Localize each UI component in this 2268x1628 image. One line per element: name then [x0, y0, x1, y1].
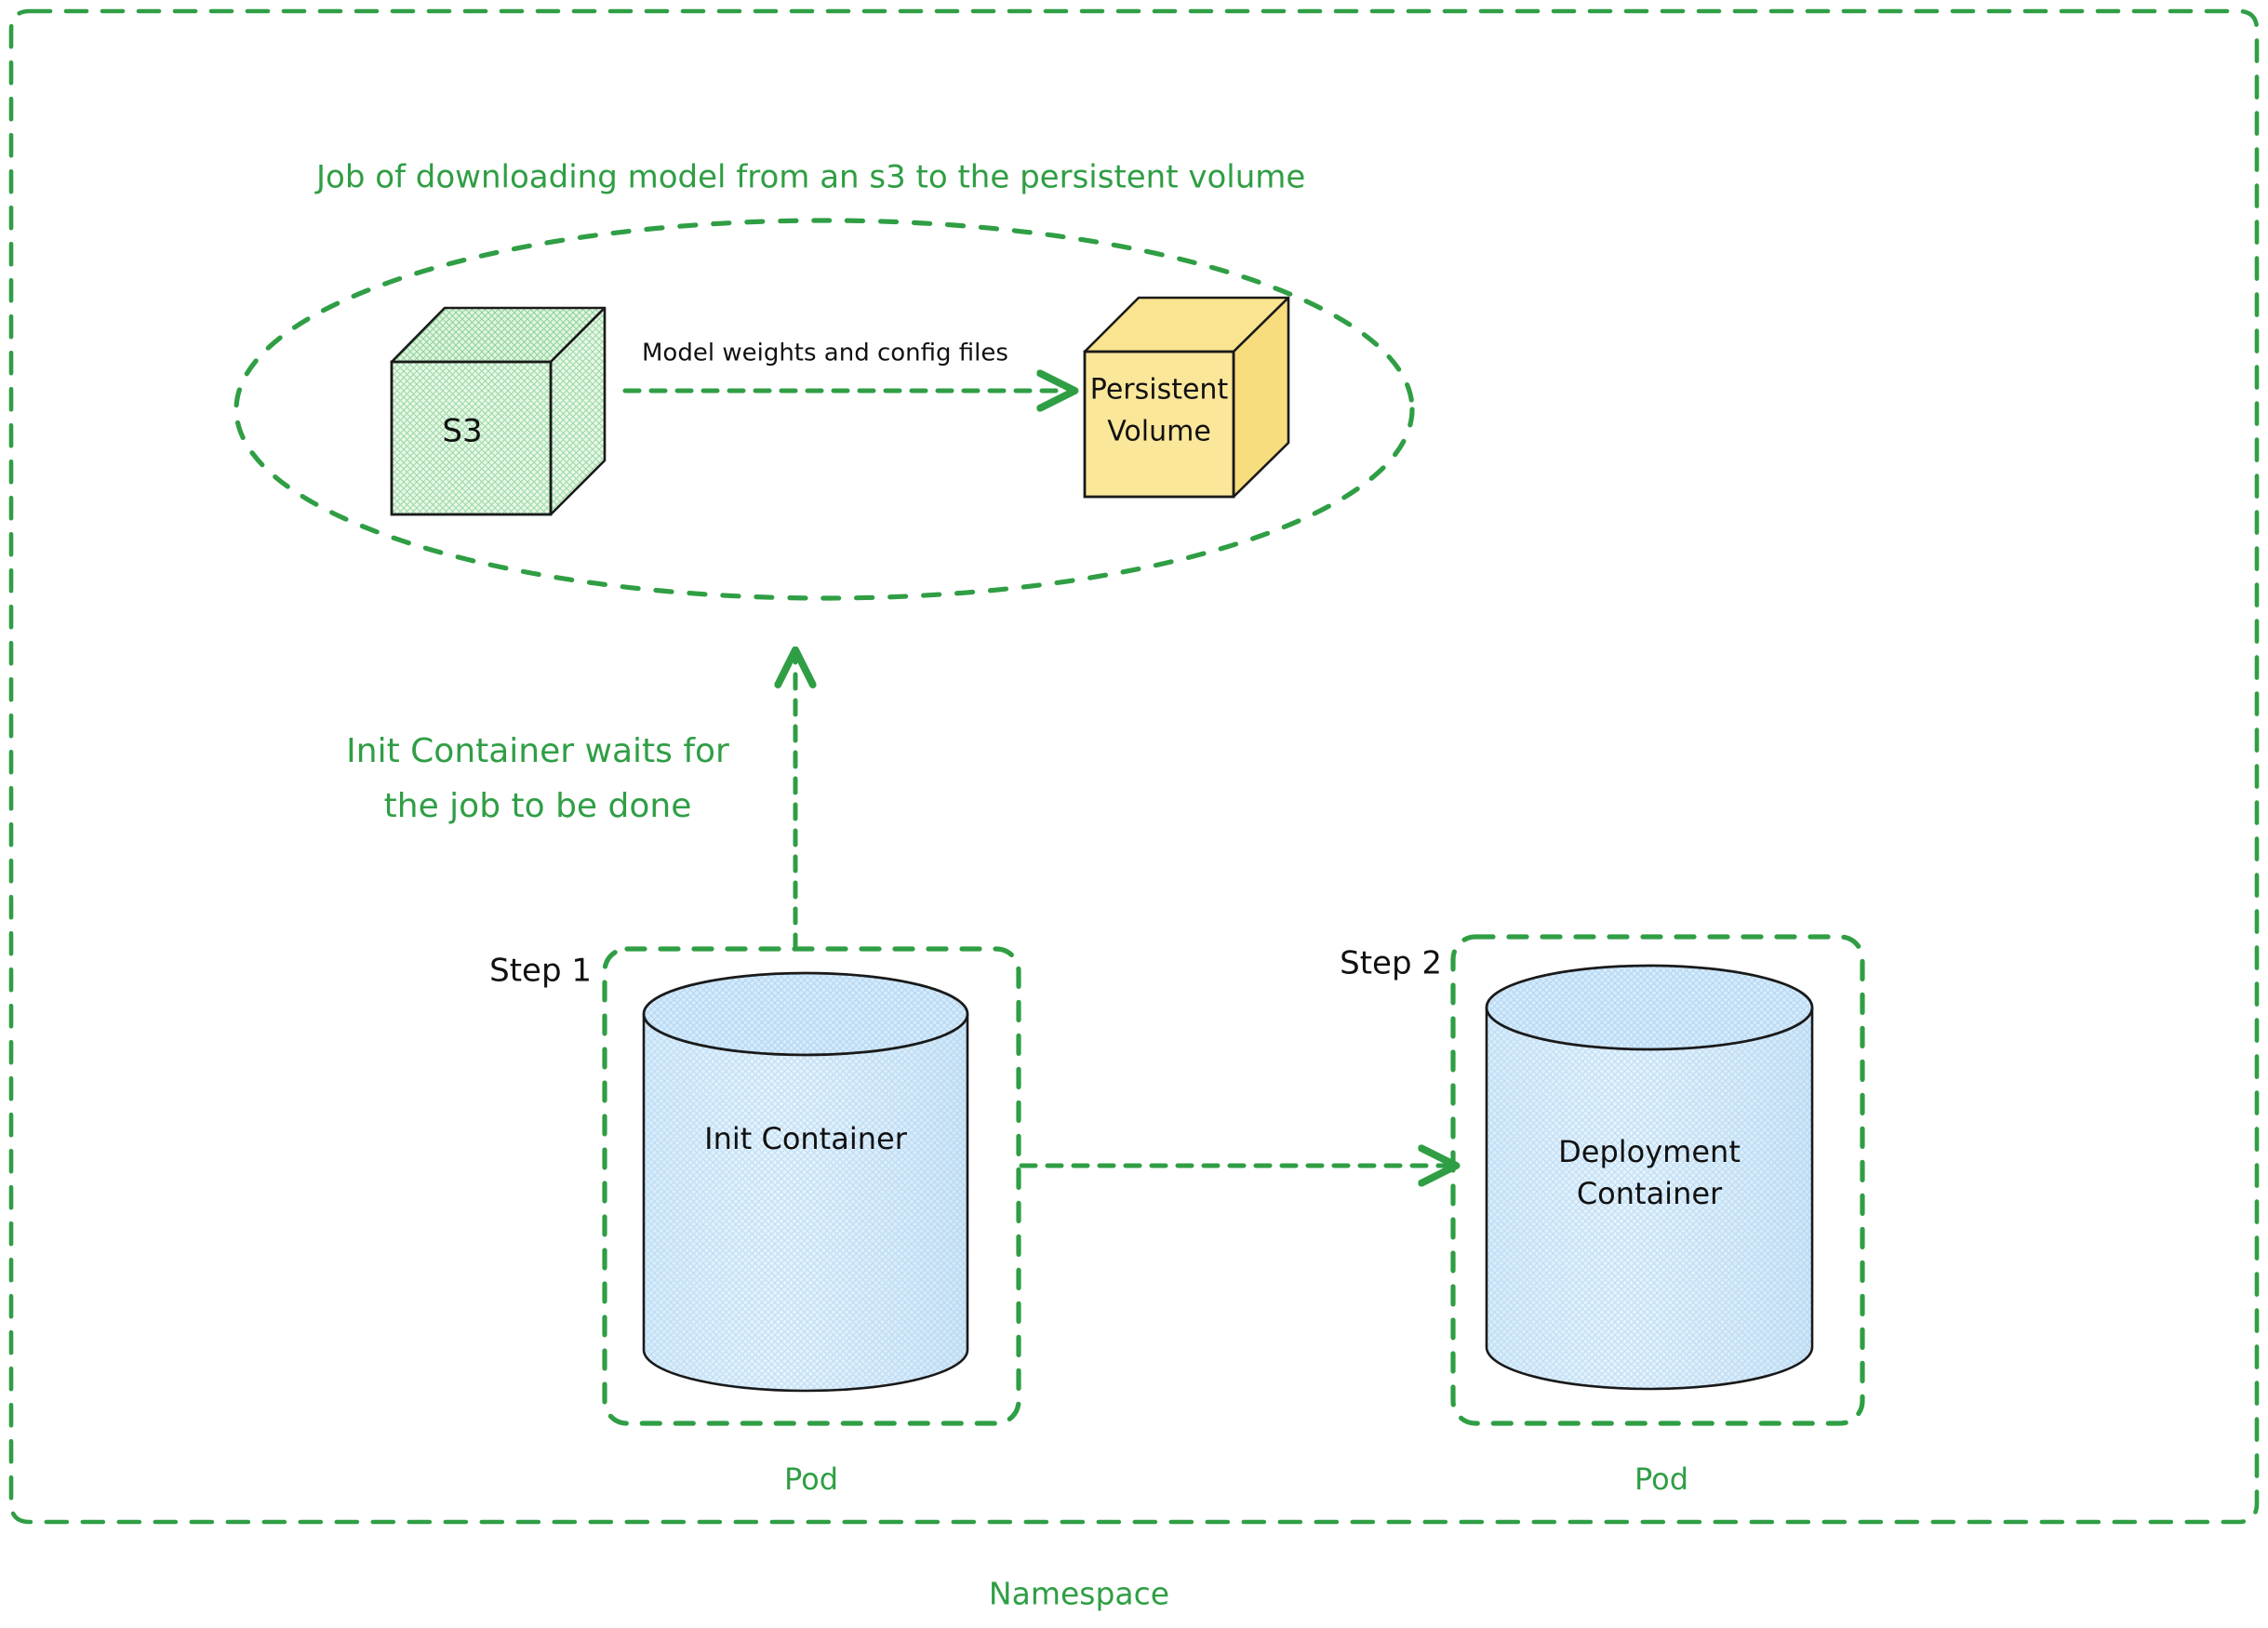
s3-cube: S3	[392, 308, 605, 514]
step-1-label: Step 1	[489, 953, 592, 990]
pod-1-label: Pod	[784, 1461, 838, 1497]
init-wait-note-line2: the job to be done	[384, 787, 692, 825]
pod-2-label: Pod	[1634, 1461, 1688, 1497]
s3-cube-label: S3	[442, 413, 482, 450]
deployment-container-label-line1: Deployment	[1558, 1134, 1741, 1169]
deployment-container-label-line2: Container	[1577, 1176, 1723, 1211]
init-container-label: Init Container	[704, 1121, 908, 1156]
namespace-label: Namespace	[989, 1576, 1169, 1612]
job-group-title: Job of downloading model from an s3 to t…	[314, 159, 1305, 196]
init-wait-note-line1: Init Container waits for	[346, 732, 729, 770]
step-2-label: Step 2	[1340, 945, 1442, 982]
model-transfer-arrow-label: Model weights and config files	[642, 340, 1008, 367]
diagram-canvas: Namespace Job of downloading model from …	[0, 0, 2268, 1624]
persistent-volume-label-line2: Volume	[1107, 416, 1211, 448]
persistent-volume-cube: Persistent Volume	[1085, 298, 1288, 497]
deployment-container-cylinder: Deployment Container	[1487, 966, 1812, 1389]
persistent-volume-label-line1: Persistent	[1090, 374, 1229, 407]
init-container-cylinder: Init Container	[644, 973, 967, 1391]
